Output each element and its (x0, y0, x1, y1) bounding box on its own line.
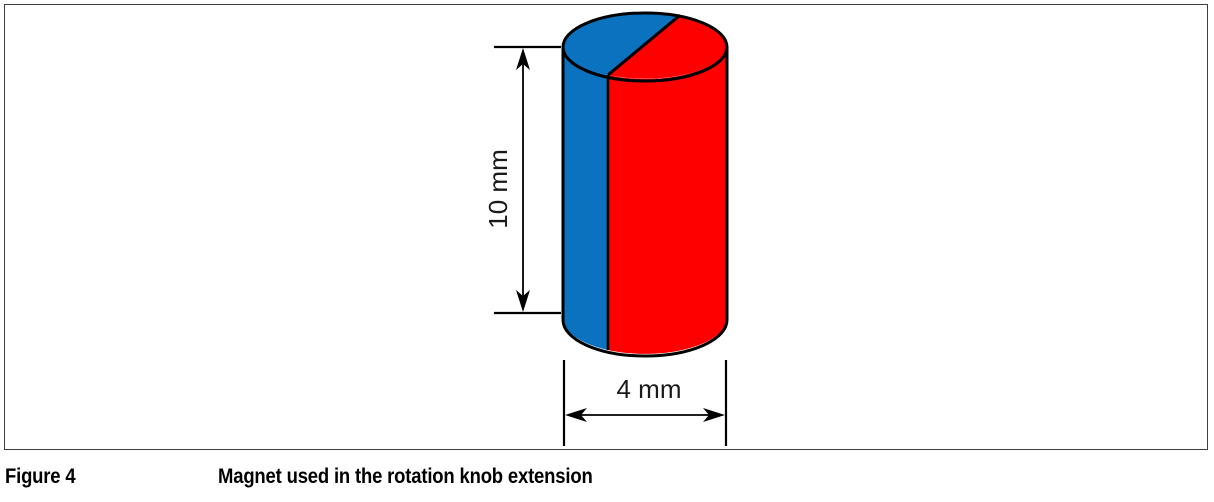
figure-caption: Figure 4 Magnet used in the rotation kno… (0, 462, 1214, 496)
figure-container: 10 mm 4 mm Figure 4 Magnet used in the r… (0, 0, 1214, 502)
height-dimension-label: 10 mm (443, 169, 553, 209)
figure-caption-label: Figure 4 (5, 462, 75, 492)
width-dimension-label: 4 mm (594, 374, 704, 405)
figure-caption-text: Magnet used in the rotation knob extensi… (218, 462, 593, 492)
